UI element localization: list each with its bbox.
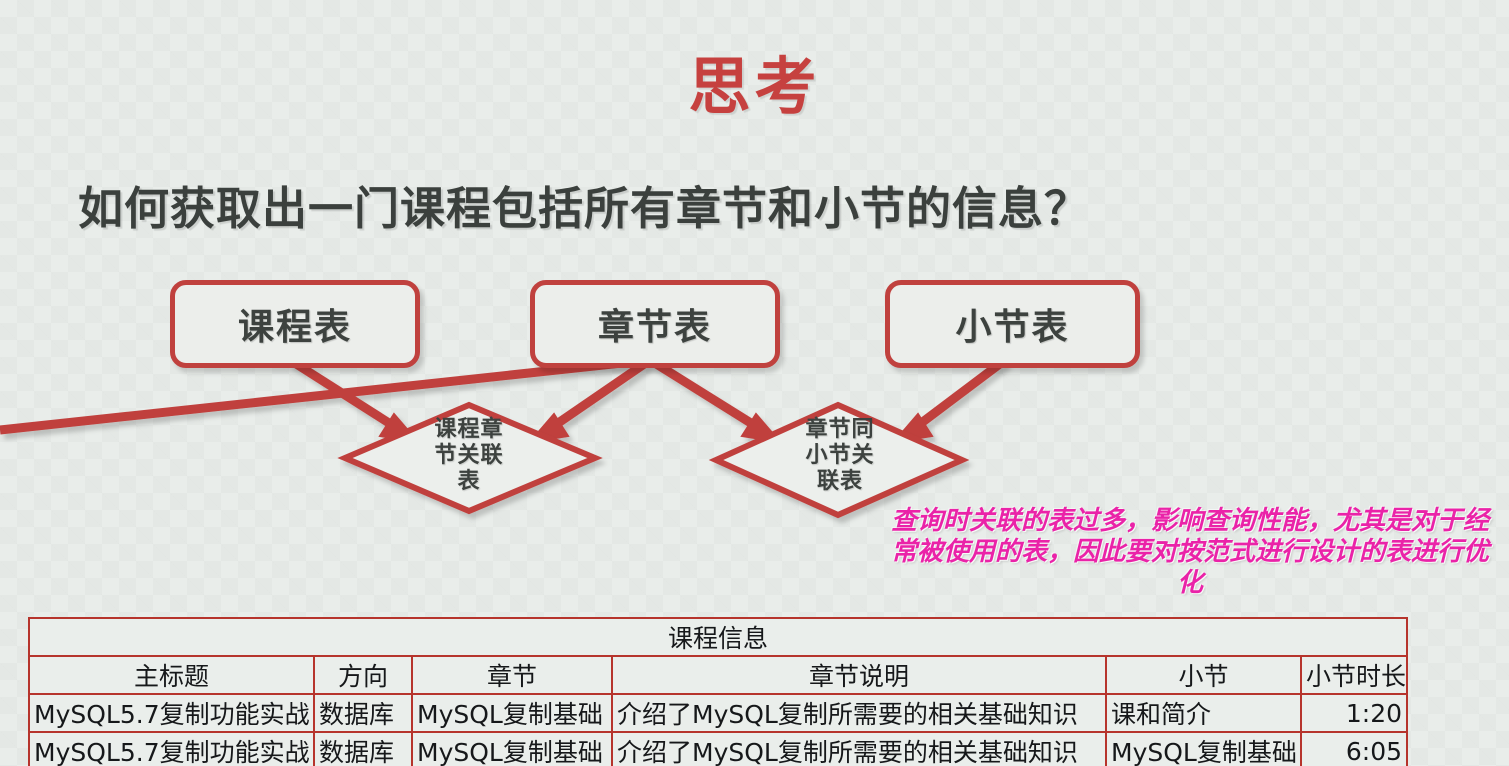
table-merged-header-cell: 课程信息 [29, 618, 1407, 656]
cell-direction: 数据库 [314, 694, 412, 732]
arrow-chapter-to-cc [548, 360, 650, 430]
table-header-direction: 方向 [314, 656, 412, 694]
entity-box-course-table[interactable]: 课程表 [170, 280, 420, 368]
entity-box-chapter-table[interactable]: 章节表 [530, 280, 780, 368]
table-header-section: 小节 [1106, 656, 1301, 694]
arrow-chapter-to-cs [650, 360, 762, 430]
table-row: MySQL5.7复制功能实战 数据库 MySQL复制基础 介绍了MySQL复制所… [29, 732, 1407, 766]
cell-chapter: MySQL复制基础 [412, 694, 612, 732]
entity-box-section-table-label: 小节表 [955, 298, 1069, 350]
table-header-chapter-desc: 章节说明 [612, 656, 1106, 694]
cell-direction: 数据库 [314, 732, 412, 766]
table-header-title: 主标题 [29, 656, 314, 694]
arrow-course-to-cc [290, 360, 400, 430]
diamond-label-course-chapter-relation: 课程章 节关联 表 [404, 417, 534, 495]
cell-chapter: MySQL复制基础 [412, 732, 612, 766]
slide-canvas: 思考 如何获取出一门课程包括所有章节和小节的信息？ [0, 0, 1509, 766]
handwritten-annotation: 查询时关联的表过多，影响查询性能，尤其是对于经常被使用的表，因此要对按范式进行设… [890, 506, 1490, 600]
cell-duration: 6:05 [1301, 732, 1407, 766]
course-info-table-wrap: 课程信息 主标题 方向 章节 章节说明 小节 小节时长 MySQL5.7复制功能… [28, 617, 1406, 766]
diamond-label-chapter-section-relation: 章节同 小节关 联表 [775, 417, 905, 495]
cell-section: MySQL复制基础 [1106, 732, 1301, 766]
subtitle-question: 如何获取出一门课程包括所有章节和小节的信息？ [78, 172, 1090, 237]
table-merged-header-row: 课程信息 [29, 618, 1407, 656]
cell-section: 课和简介 [1106, 694, 1301, 732]
entity-box-section-table[interactable]: 小节表 [885, 280, 1140, 368]
cell-chapter-desc: 介绍了MySQL复制所需要的相关基础知识 [612, 694, 1106, 732]
table-header-duration: 小节时长 [1301, 656, 1407, 694]
cell-title: MySQL5.7复制功能实战 [29, 732, 314, 766]
cell-chapter-desc: 介绍了MySQL复制所需要的相关基础知识 [612, 732, 1106, 766]
table-header-chapter: 章节 [412, 656, 612, 694]
arrow-section-to-cs [912, 360, 1005, 430]
course-info-table: 课程信息 主标题 方向 章节 章节说明 小节 小节时长 MySQL5.7复制功能… [28, 617, 1408, 766]
arrowhead-chapter-to-cc [530, 414, 568, 442]
table-row: MySQL5.7复制功能实战 数据库 MySQL复制基础 介绍了MySQL复制所… [29, 694, 1407, 732]
cell-duration: 1:20 [1301, 694, 1407, 732]
cell-title: MySQL5.7复制功能实战 [29, 694, 314, 732]
entity-box-chapter-table-label: 章节表 [598, 298, 712, 350]
entity-box-course-table-label: 课程表 [238, 298, 352, 350]
page-title: 思考 [0, 36, 1509, 126]
table-header-row: 主标题 方向 章节 章节说明 小节 小节时长 [29, 656, 1407, 694]
